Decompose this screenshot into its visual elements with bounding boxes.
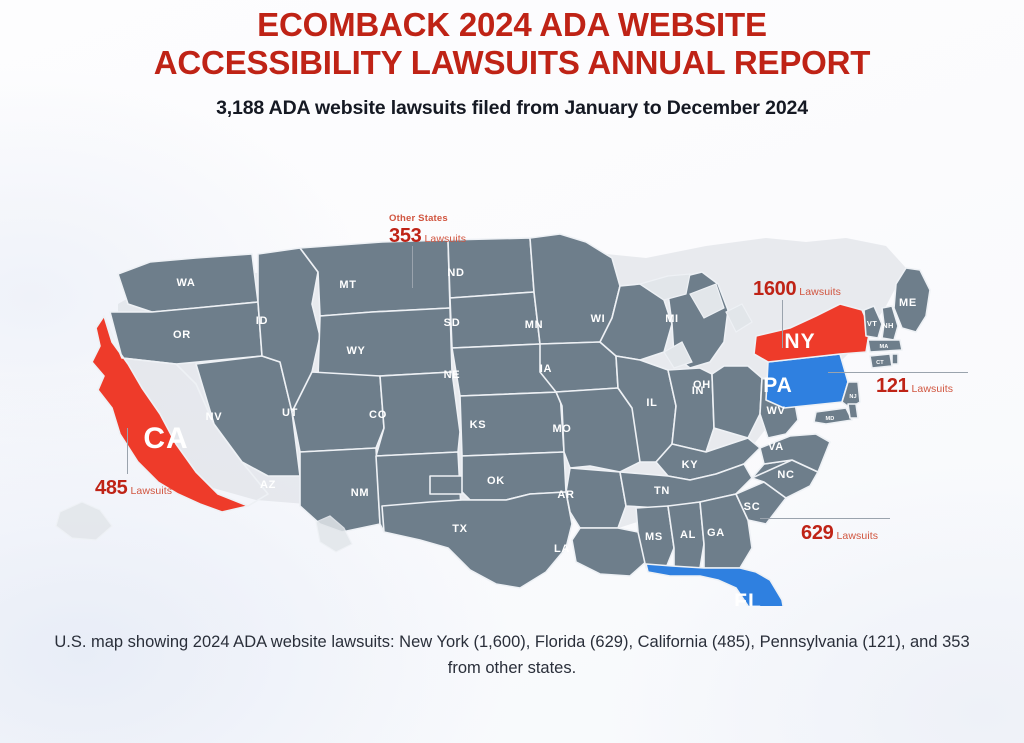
state-label-OK: OK [487, 475, 505, 487]
state-label-NC: NC [777, 469, 794, 481]
state-label-MA: MA [880, 344, 889, 350]
state-label-ID: ID [256, 315, 268, 327]
state-label-ME: ME [899, 297, 917, 309]
callout-california-unit: Lawsuits [130, 485, 172, 497]
state-label-NY: NY [784, 330, 815, 353]
leader-line-other-states [412, 246, 413, 288]
callout-florida: 629Lawsuits [801, 522, 878, 545]
state-CO [376, 372, 460, 456]
state-label-NH: NH [882, 321, 893, 330]
state-label-CT: CT [876, 360, 884, 366]
callout-new-york-unit: Lawsuits [799, 286, 841, 298]
callout-other-states-unit: Lawsuits [424, 233, 466, 245]
callout-other-states: Other States 353Lawsuits [389, 213, 466, 248]
state-label-CO: CO [369, 409, 387, 421]
leader-line-florida [760, 518, 890, 519]
state-label-TX: TX [452, 523, 467, 535]
state-label-ND: ND [447, 267, 464, 279]
state-label-CA: CA [143, 422, 188, 455]
state-label-IA: IA [540, 363, 552, 375]
state-label-MT: MT [339, 279, 356, 291]
infographic-canvas: ECOMBACK 2024 ADA WEBSITE ACCESSIBILITY … [0, 0, 1024, 743]
callout-pennsylvania: 121Lawsuits [876, 375, 953, 398]
state-AR [566, 468, 626, 528]
state-label-SC: SC [744, 501, 761, 513]
state-FL [646, 564, 786, 606]
leader-line-california [127, 428, 128, 474]
state-label-KY: KY [682, 459, 699, 471]
state-RI [892, 354, 898, 364]
callout-other-states-value: 353 [389, 225, 421, 247]
callout-pennsylvania-unit: Lawsuits [911, 383, 953, 395]
state-label-NJ: NJ [849, 394, 856, 400]
state-label-MD: MD [826, 416, 835, 422]
state-label-IL: IL [646, 397, 657, 409]
state-label-VA: VA [768, 441, 784, 453]
state-label-FL: FL [734, 590, 762, 606]
state-label-MO: MO [552, 423, 571, 435]
state-label-SD: SD [444, 317, 461, 329]
state-label-MS: MS [645, 531, 663, 543]
state-DE [848, 404, 858, 418]
state-label-WA: WA [176, 277, 195, 289]
callout-new-york-value: 1600 [753, 278, 796, 300]
callout-california: 485Lawsuits [95, 477, 172, 500]
state-label-NM: NM [351, 487, 370, 499]
state-label-AR: AR [557, 489, 574, 501]
state-label-MI: MI [665, 313, 679, 325]
state-label-VT: VT [867, 319, 877, 328]
state-label-NV: NV [206, 411, 223, 423]
state-label-OR: OR [173, 329, 191, 341]
state-label-WY: WY [346, 345, 365, 357]
page-subtitle: 3,188 ADA website lawsuits filed from Ja… [0, 97, 1024, 120]
state-label-AL: AL [680, 529, 696, 541]
callout-new-york: 1600Lawsuits [753, 278, 841, 301]
state-label-LA: LA [554, 543, 570, 555]
callout-florida-unit: Lawsuits [836, 530, 878, 542]
state-label-KS: KS [470, 419, 487, 431]
state-LA [572, 528, 648, 576]
figure-caption: U.S. map showing 2024 ADA website lawsui… [47, 630, 977, 681]
state-label-UT: UT [282, 407, 298, 419]
state-label-WI: WI [591, 313, 606, 325]
page-title: ECOMBACK 2024 ADA WEBSITE ACCESSIBILITY … [0, 0, 1024, 83]
state-label-WV: WV [766, 405, 785, 417]
state-label-PA: PA [763, 374, 793, 397]
callout-pennsylvania-value: 121 [876, 375, 908, 397]
state-label-AZ: AZ [260, 479, 276, 491]
leader-line-pennsylvania [828, 372, 968, 373]
callout-florida-value: 629 [801, 522, 833, 544]
state-WY [318, 308, 452, 378]
callout-california-value: 485 [95, 477, 127, 499]
state-label-OH: OH [693, 379, 711, 391]
leader-line-new-york [782, 300, 783, 348]
state-label-MN: MN [525, 319, 544, 331]
callout-other-states-heading: Other States [389, 213, 466, 224]
state-label-NE: NE [444, 369, 461, 381]
state-TX [382, 492, 572, 588]
state-label-TN: TN [654, 485, 670, 497]
state-MT [300, 240, 450, 316]
state-label-GA: GA [707, 527, 725, 539]
header: ECOMBACK 2024 ADA WEBSITE ACCESSIBILITY … [0, 0, 1024, 120]
